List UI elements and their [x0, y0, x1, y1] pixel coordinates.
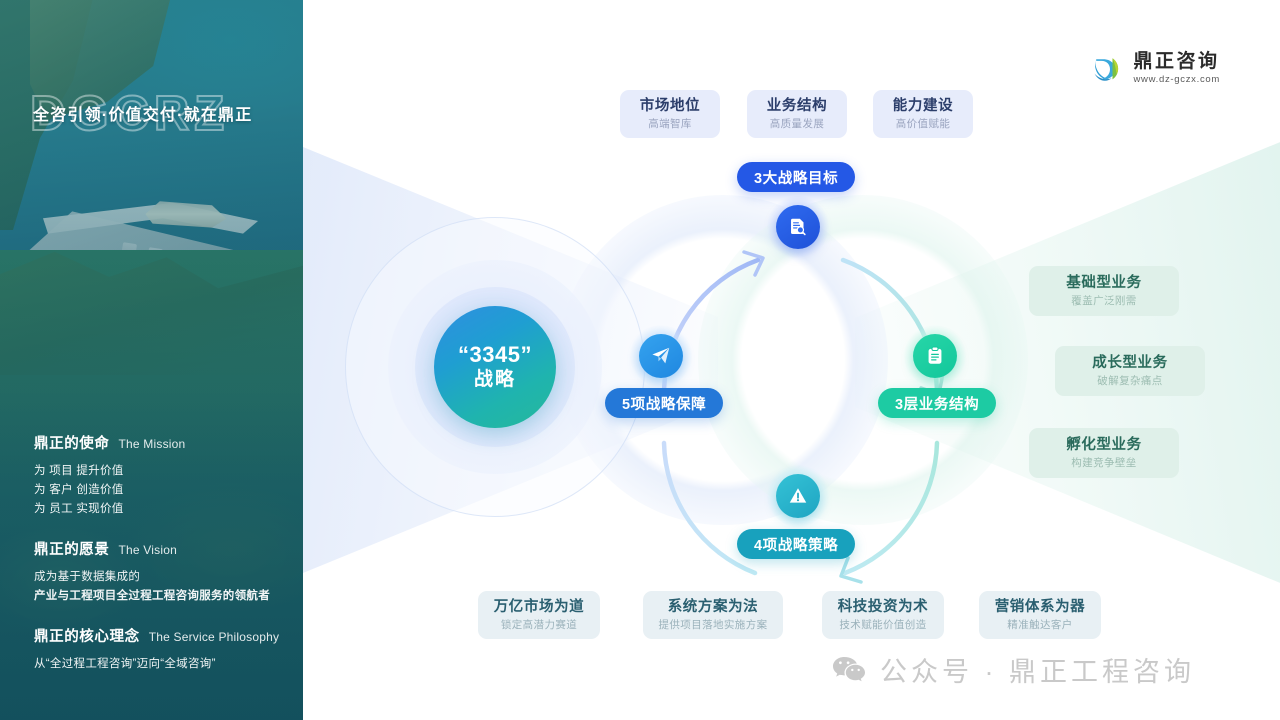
section-philosophy-heading: 鼎正的核心理念 The Service Philosophy [34, 625, 284, 646]
card-right-3-title: 孵化型业务 [1066, 436, 1142, 455]
card-right-2[interactable]: 成长型业务 破解复杂痛点 [1055, 346, 1205, 396]
card-top-2[interactable]: 业务结构 高质量发展 [747, 90, 847, 138]
card-right-3-sub: 构建竞争壁垒 [1071, 456, 1136, 471]
vision-line-2: 产业与工程项目全过程工程咨询服务的领航者 [34, 587, 284, 606]
logo-url: www.dz-gczx.com [1133, 74, 1220, 86]
card-right-1-title: 基础型业务 [1066, 274, 1142, 293]
pill-business-structure[interactable]: 3层业务结构 [878, 388, 996, 418]
pill-strategic-tactics[interactable]: 4项战略策略 [737, 529, 855, 559]
logo-name: 鼎正咨询 [1133, 52, 1220, 72]
leaf-logo-icon [1091, 53, 1123, 85]
card-bottom-4-title: 营销体系为器 [995, 598, 1086, 617]
section-mission-title-en: The Mission [119, 437, 186, 451]
section-vision: 鼎正的愿景 The Vision 成为基于数据集成的 产业与工程项目全过程工程咨… [34, 538, 284, 606]
core-label-word: 战略 [474, 368, 516, 392]
card-top-1[interactable]: 市场地位 高端智库 [620, 90, 720, 138]
wechat-icon [832, 656, 866, 683]
company-logo: 鼎正咨询 www.dz-gczx.com [1091, 52, 1220, 86]
card-right-2-sub: 破解复杂痛点 [1097, 374, 1162, 389]
card-bottom-1[interactable]: 万亿市场为道 锁定高潜力赛道 [478, 591, 600, 639]
card-bottom-2-title: 系统方案为法 [668, 598, 759, 617]
card-right-2-title: 成长型业务 [1092, 354, 1168, 373]
card-bottom-2[interactable]: 系统方案为法 提供项目落地实施方案 [643, 591, 783, 639]
paper-plane-icon [639, 334, 683, 378]
brand-slogan: 全咨引领·价值交付·就在鼎正 [33, 101, 278, 125]
section-mission-heading: 鼎正的使命 The Mission [34, 432, 284, 453]
section-vision-title-en: The Vision [119, 543, 177, 557]
wechat-footer: 公众号 · 鼎正工程咨询 [832, 650, 1195, 689]
core-label-code: “3345” [458, 342, 532, 368]
section-mission-title-cn: 鼎正的使命 [34, 432, 110, 453]
hub-core-circle: “3345” 战略 [434, 306, 556, 428]
card-bottom-3-title: 科技投资为术 [838, 598, 929, 617]
card-right-1[interactable]: 基础型业务 覆盖广泛刚需 [1029, 266, 1179, 316]
card-bottom-1-sub: 锁定高潜力赛道 [501, 618, 577, 633]
card-top-2-sub: 高质量发展 [770, 117, 825, 132]
section-mission: 鼎正的使命 The Mission 为 项目 提升价值 为 客户 创造价值 为 … [34, 432, 284, 519]
node-bottom-tactics[interactable] [776, 474, 820, 518]
pill-strategic-safeguards[interactable]: 5项战略保障 [605, 388, 723, 418]
card-bottom-1-title: 万亿市场为道 [494, 598, 585, 617]
card-right-1-sub: 覆盖广泛刚需 [1071, 294, 1136, 309]
mission-line-1: 为 项目 提升价值 [34, 462, 284, 481]
card-top-1-title: 市场地位 [640, 97, 700, 116]
section-vision-heading: 鼎正的愿景 The Vision [34, 538, 284, 559]
clipboard-icon [913, 334, 957, 378]
node-top-goals[interactable] [776, 205, 820, 249]
card-right-3[interactable]: 孵化型业务 构建竞争壁垒 [1029, 428, 1179, 478]
brand-watermark-block: DGCRZ 全咨引领·价值交付·就在鼎正 [30, 84, 275, 146]
philosophy-line-1: 从“全过程工程咨询”迈向“全域咨询” [34, 655, 284, 674]
card-top-3[interactable]: 能力建设 高价值赋能 [873, 90, 973, 138]
card-bottom-3-sub: 技术赋能价值创造 [839, 618, 926, 633]
card-top-3-sub: 高价值赋能 [896, 117, 951, 132]
card-bottom-4[interactable]: 营销体系为器 精准触达客户 [979, 591, 1101, 639]
card-bottom-4-sub: 精准触达客户 [1007, 618, 1072, 633]
card-bottom-3[interactable]: 科技投资为术 技术赋能价值创造 [822, 591, 944, 639]
left-brand-panel: DGCRZ 全咨引领·价值交付·就在鼎正 鼎正的使命 The Mission 为… [0, 0, 303, 720]
wechat-footer-text: 公众号 · 鼎正工程咨询 [880, 650, 1195, 689]
section-philosophy: 鼎正的核心理念 The Service Philosophy 从“全过程工程咨询… [34, 625, 284, 674]
document-search-icon [776, 205, 820, 249]
card-top-2-title: 业务结构 [767, 97, 827, 116]
section-philosophy-title-en: The Service Philosophy [149, 630, 279, 644]
vision-line-1: 成为基于数据集成的 [34, 568, 284, 587]
card-bottom-2-sub: 提供项目落地实施方案 [659, 618, 768, 633]
node-right-business-structure[interactable] [913, 334, 957, 378]
pill-strategic-goals[interactable]: 3大战略目标 [737, 162, 855, 192]
section-philosophy-title-cn: 鼎正的核心理念 [34, 625, 140, 646]
section-vision-title-cn: 鼎正的愿景 [34, 538, 110, 559]
card-top-3-title: 能力建设 [893, 97, 953, 116]
slide-canvas: DGCRZ 全咨引领·价值交付·就在鼎正 鼎正的使命 The Mission 为… [0, 0, 1280, 720]
card-top-1-sub: 高端智库 [648, 117, 692, 132]
mission-line-2: 为 客户 创造价值 [34, 481, 284, 500]
mission-vision-philosophy: 鼎正的使命 The Mission 为 项目 提升价值 为 客户 创造价值 为 … [34, 432, 284, 693]
mission-line-3: 为 员工 实现价值 [34, 500, 284, 519]
node-left-safeguards[interactable] [639, 334, 683, 378]
background-halo-right [698, 195, 1028, 525]
alert-triangle-icon [776, 474, 820, 518]
